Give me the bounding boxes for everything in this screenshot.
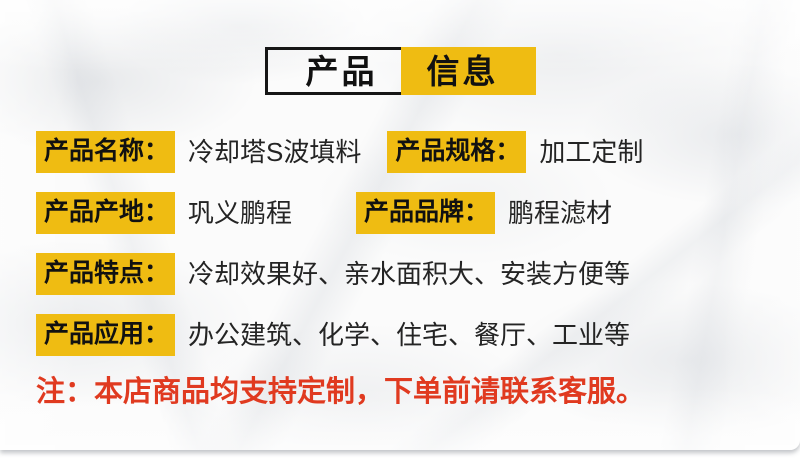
field-value: 加工定制 bbox=[526, 139, 643, 165]
title-filled-box: 信息 bbox=[401, 47, 536, 95]
field-label: 产品品牌： bbox=[356, 192, 495, 234]
info-row: 产品名称： 冷却塔S波填料 产品规格： 加工定制 bbox=[36, 131, 643, 173]
field-product-name: 产品名称： 冷却塔S波填料 bbox=[36, 131, 361, 173]
title-text-primary: 产品 bbox=[306, 55, 378, 88]
info-row: 产品产地： 巩义鹏程 产品品牌： 鹏程滤材 bbox=[36, 192, 612, 234]
field-value: 办公建筑、化学、住宅、餐厅、工业等 bbox=[175, 322, 630, 348]
field-value: 冷却效果好、亲水面积大、安装方便等 bbox=[175, 261, 630, 287]
field-product-applications: 产品应用： 办公建筑、化学、住宅、餐厅、工业等 bbox=[36, 314, 630, 356]
field-label: 产品特点： bbox=[36, 253, 175, 295]
field-product-spec: 产品规格： 加工定制 bbox=[387, 131, 643, 173]
field-product-brand: 产品品牌： 鹏程滤材 bbox=[356, 192, 612, 234]
info-row: 产品特点： 冷却效果好、亲水面积大、安装方便等 bbox=[36, 253, 630, 295]
field-value: 冷却塔S波填料 bbox=[175, 139, 361, 165]
field-label: 产品应用： bbox=[36, 314, 175, 356]
field-product-features: 产品特点： 冷却效果好、亲水面积大、安装方便等 bbox=[36, 253, 630, 295]
field-label: 产品名称： bbox=[36, 131, 175, 173]
field-value: 鹏程滤材 bbox=[495, 200, 612, 226]
field-label: 产品产地： bbox=[36, 192, 175, 234]
field-value: 巩义鹏程 bbox=[175, 200, 292, 226]
info-row: 产品应用： 办公建筑、化学、住宅、餐厅、工业等 bbox=[36, 314, 630, 356]
marble-background-panel: 产品 信息 产品名称： 冷却塔S波填料 产品规格： 加工定制 产品产地： 巩义鹏… bbox=[0, 0, 800, 450]
title-text-secondary: 信息 bbox=[427, 55, 499, 88]
customization-note: 注：本店商品均支持定制，下单前请联系客服。 bbox=[36, 378, 645, 407]
field-product-origin: 产品产地： 巩义鹏程 bbox=[36, 192, 292, 234]
title-outlined-box: 产品 bbox=[265, 47, 401, 95]
field-label: 产品规格： bbox=[387, 131, 526, 173]
page-title-badge: 产品 信息 bbox=[265, 47, 536, 95]
product-info-content: 产品 信息 产品名称： 冷却塔S波填料 产品规格： 加工定制 产品产地： 巩义鹏… bbox=[0, 0, 800, 450]
